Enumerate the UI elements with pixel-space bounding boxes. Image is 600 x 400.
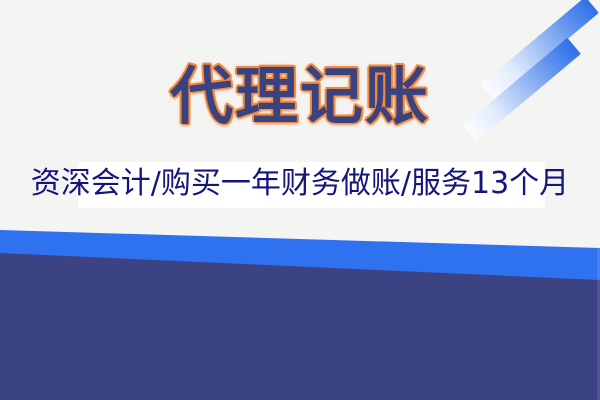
headline-container: 代理记账: [0, 61, 600, 133]
subtitle-container: 资深会计/购买一年财务做账/服务13个月: [0, 160, 600, 210]
poster-canvas: 代理记账 资深会计/购买一年财务做账/服务13个月: [0, 0, 600, 400]
page-title: 代理记账: [170, 61, 430, 133]
page-subtitle: 资深会计/购买一年财务做账/服务13个月: [0, 160, 600, 208]
